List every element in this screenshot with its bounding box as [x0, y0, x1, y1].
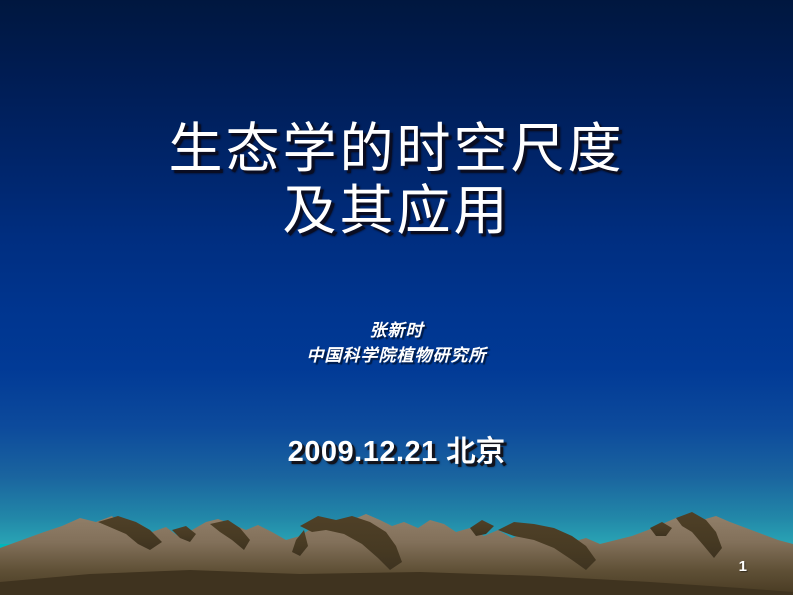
author-name: 张新时 [0, 318, 793, 343]
mountain-range-silhouette [0, 470, 793, 595]
slide-title: 生态学的时空尺度 及其应用 [0, 118, 793, 242]
author-affiliation: 中国科学院植物研究所 [0, 343, 793, 368]
date-and-location: 2009.12.21 北京 [0, 434, 793, 470]
slide-page-number: 1 [739, 558, 747, 576]
author-block: 张新时 中国科学院植物研究所 [0, 318, 793, 368]
presentation-slide: 生态学的时空尺度 及其应用 张新时 中国科学院植物研究所 2009.12.21 … [0, 0, 793, 595]
